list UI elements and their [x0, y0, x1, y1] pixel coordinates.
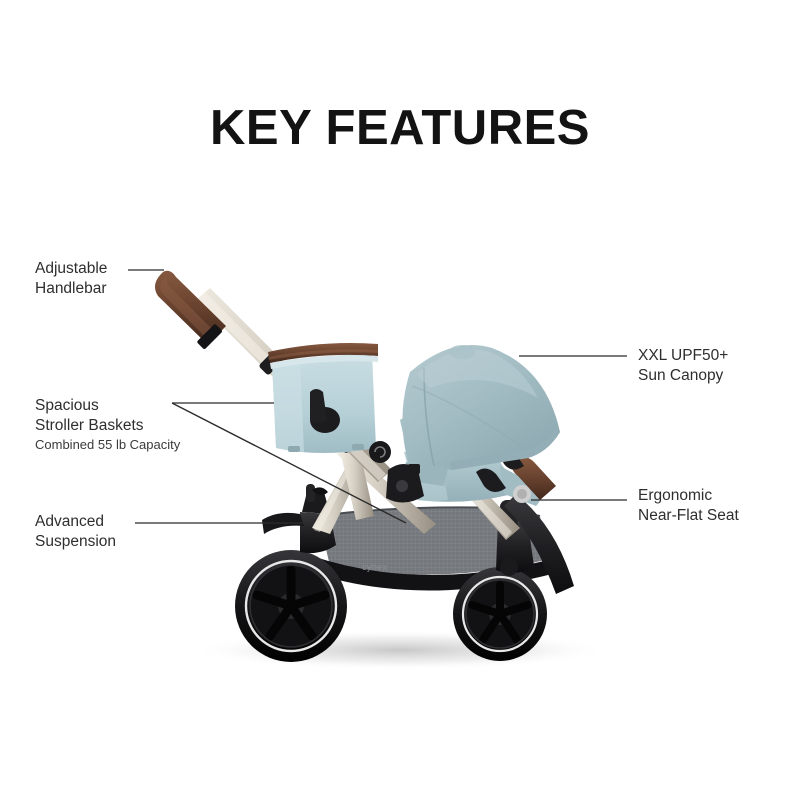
callout-seat-line1: Ergonomic: [638, 486, 739, 506]
callout-canopy-line2: Sun Canopy: [638, 366, 728, 386]
callout-handlebar: Adjustable Handlebar: [35, 259, 107, 298]
callout-handlebar-line1: Adjustable: [35, 259, 107, 279]
callout-suspension-line1: Advanced: [35, 512, 116, 532]
rear-wheel: [235, 550, 347, 662]
brand-logo-canopy: [449, 345, 475, 359]
brand-logo-hub: [369, 441, 391, 463]
callout-suspension-line2: Suspension: [35, 532, 116, 552]
front-wheel: [453, 567, 547, 661]
callout-baskets-line2: Stroller Baskets: [35, 416, 180, 436]
callout-baskets-line1: Spacious: [35, 396, 180, 416]
parent-basket: [268, 343, 378, 453]
callout-seat-line2: Near-Flat Seat: [638, 506, 739, 526]
brand-mark-basket: cybex: [362, 562, 388, 572]
callout-canopy-line1: XXL UPF50+: [638, 346, 728, 366]
callout-canopy: XXL UPF50+ Sun Canopy: [638, 346, 728, 385]
key-features-infographic: KEY FEATURES: [0, 0, 800, 800]
callout-handlebar-line2: Handlebar: [35, 279, 107, 299]
callout-baskets-subtext: Combined 55 lb Capacity: [35, 436, 180, 454]
callout-seat: Ergonomic Near-Flat Seat: [638, 486, 739, 525]
callout-baskets: Spacious Stroller Baskets Combined 55 lb…: [35, 396, 180, 454]
callout-suspension: Advanced Suspension: [35, 512, 116, 551]
